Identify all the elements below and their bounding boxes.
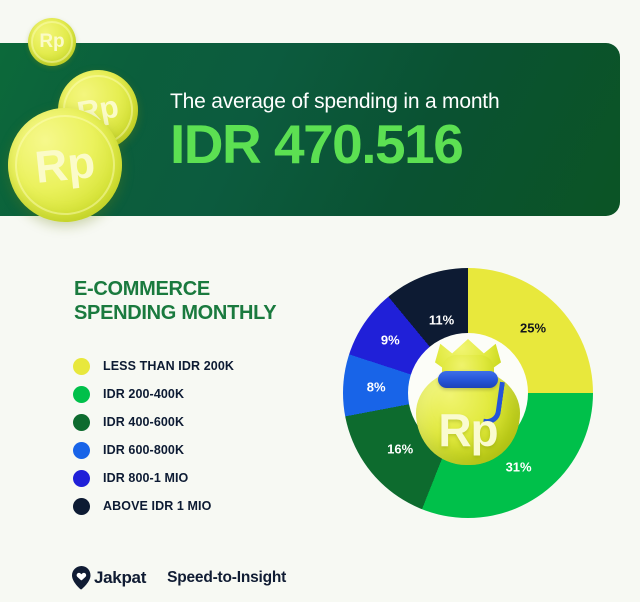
legend-item-label: ABOVE IDR 1 MIO	[103, 499, 211, 513]
slice-percentage-label: 8%	[367, 380, 386, 395]
spending-donut-chart: Rp 25%31%16%8%9%11%	[343, 268, 593, 518]
legend-color-swatch	[73, 442, 90, 459]
legend-item-label: IDR 400-600K	[103, 415, 184, 429]
slice-percentage-label: 31%	[506, 460, 532, 475]
coin-label: Rp	[28, 18, 76, 66]
legend-item[interactable]: LESS THAN IDR 200K	[73, 352, 323, 380]
bag-currency-label: Rp	[404, 403, 532, 457]
legend-item-label: LESS THAN IDR 200K	[103, 359, 234, 373]
slice-percentage-label: 11%	[429, 312, 454, 327]
slice-percentage-label: 9%	[381, 333, 400, 348]
rupiah-coin-small-icon: Rp	[28, 18, 76, 66]
section-title-line2: SPENDING MONTHLY	[74, 301, 314, 325]
section-title-line1: E-COMMERCE	[74, 277, 314, 301]
footer-tagline: Speed-to-Insight	[167, 569, 286, 587]
legend-color-swatch	[73, 386, 90, 403]
location-pin-heart-icon	[72, 566, 91, 590]
legend-color-swatch	[73, 414, 90, 431]
slice-percentage-label: 25%	[520, 320, 546, 335]
legend-item[interactable]: IDR 200-400K	[73, 380, 323, 408]
legend-color-swatch	[73, 358, 90, 375]
legend-item-label: IDR 600-800K	[103, 443, 184, 457]
footer: Jakpat Speed-to-Insight	[72, 566, 286, 590]
header-amount: IDR 470.516	[170, 116, 600, 174]
chart-legend: LESS THAN IDR 200KIDR 200-400KIDR 400-60…	[73, 352, 323, 520]
legend-color-swatch	[73, 470, 90, 487]
legend-item[interactable]: IDR 600-800K	[73, 436, 323, 464]
legend-color-swatch	[73, 498, 90, 515]
legend-item[interactable]: IDR 800-1 MIO	[73, 464, 323, 492]
jakpat-brand-name: Jakpat	[94, 568, 146, 588]
header-text-group: The average of spending in a month IDR 4…	[170, 43, 600, 216]
money-bag-icon: Rp	[404, 325, 532, 465]
header-subtitle: The average of spending in a month	[170, 90, 600, 114]
legend-item-label: IDR 800-1 MIO	[103, 471, 188, 485]
legend-item[interactable]: IDR 400-600K	[73, 408, 323, 436]
slice-percentage-label: 16%	[387, 442, 413, 457]
legend-item-label: IDR 200-400K	[103, 387, 184, 401]
legend-item[interactable]: ABOVE IDR 1 MIO	[73, 492, 323, 520]
section-title: E-COMMERCE SPENDING MONTHLY	[74, 277, 314, 325]
